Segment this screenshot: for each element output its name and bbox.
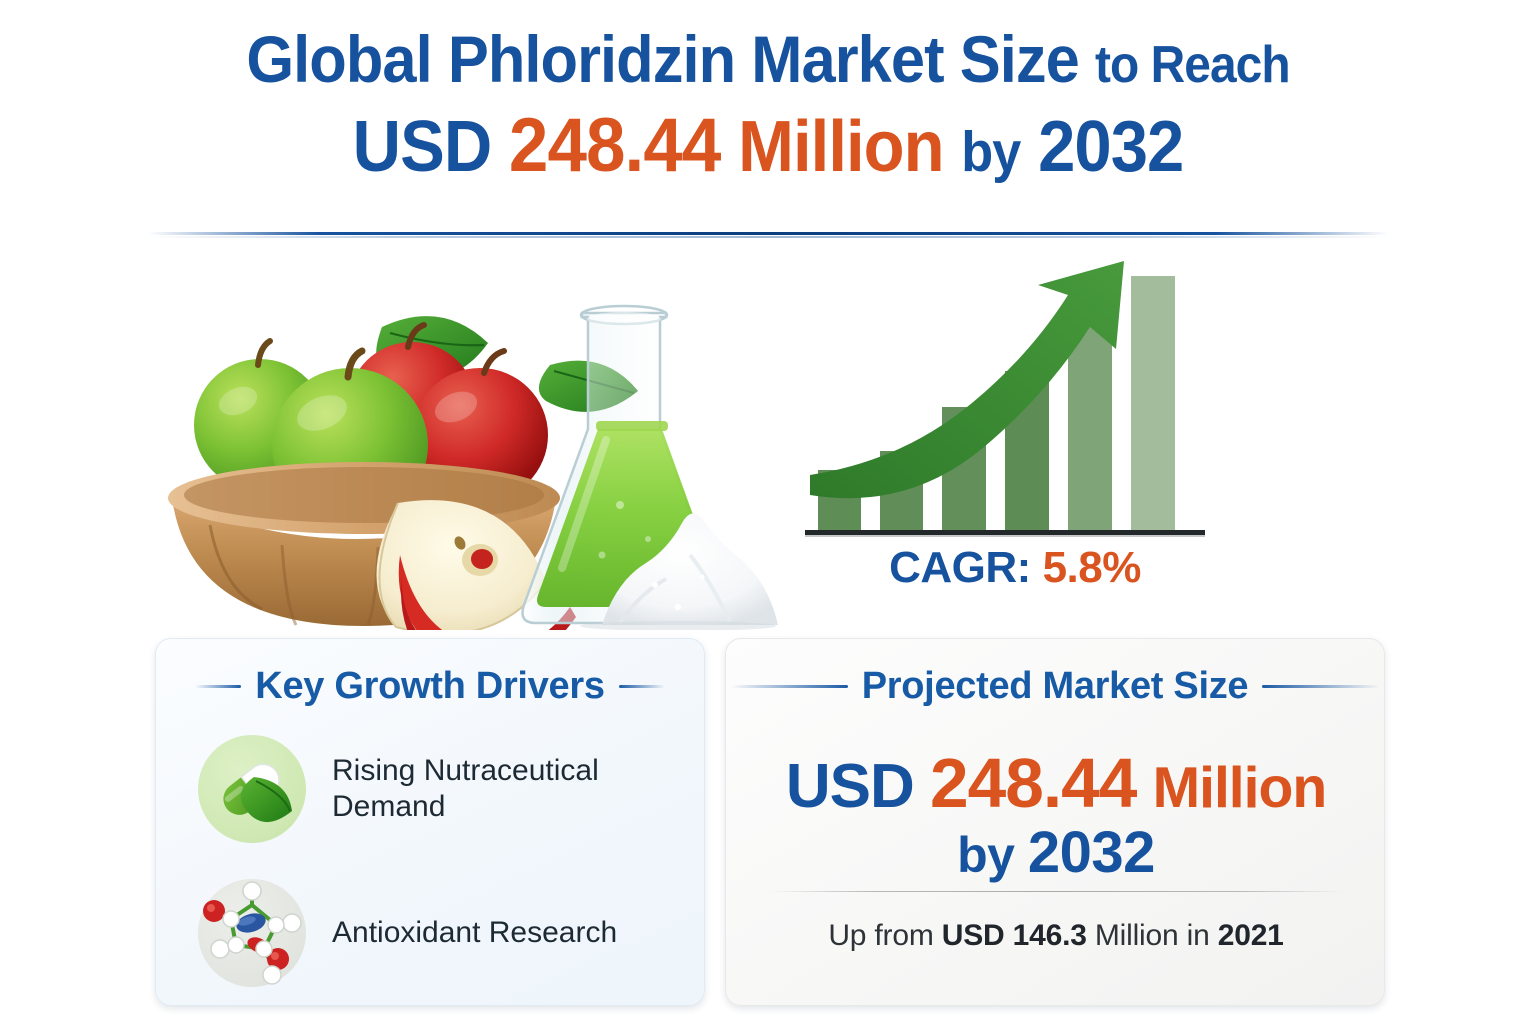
projected-year-row: by 2032 — [726, 819, 1386, 886]
cagr-readout: CAGR: 5.8% — [805, 543, 1225, 593]
title-currency: USD — [353, 107, 492, 187]
projected-card-title: Projected Market Size — [862, 665, 1249, 708]
driver-item-1-label: Rising Nutraceutical Demand — [332, 753, 672, 825]
molecule-icon — [198, 879, 306, 987]
apples-flask-powder-graphic — [150, 255, 830, 630]
header-divider — [148, 232, 1388, 235]
projected-card-divider — [768, 891, 1344, 892]
baseline-note: Up from USD 146.3 Million in 2021 — [726, 919, 1386, 953]
driver-item-1: Rising Nutraceutical Demand — [198, 735, 672, 843]
page-title-line-1: Global Phloridzin Market Size to Reach — [54, 22, 1482, 101]
drivers-card-header: Key Growth Drivers — [156, 639, 704, 708]
title-unit: Million — [738, 107, 943, 187]
dash-right-icon — [1262, 685, 1380, 688]
dash-left-icon — [195, 685, 241, 688]
title-by: by — [961, 120, 1020, 183]
projected-card-header: Projected Market Size — [726, 639, 1384, 708]
projected-currency: USD — [786, 752, 914, 821]
cagr-value: 5.8% — [1043, 543, 1141, 592]
note-prefix: Up from — [828, 919, 933, 952]
hero-illustration — [150, 255, 830, 630]
chart-baseline-shadow — [805, 535, 1205, 537]
key-growth-drivers-card: Key Growth Drivers — [155, 638, 705, 1006]
projected-value-row: USD 248.44 Million — [726, 743, 1386, 823]
driver-item-2: Antioxidant Research — [198, 879, 617, 987]
projected-year: 2032 — [1028, 820, 1155, 885]
projected-by-word: by — [957, 827, 1014, 883]
page-title-line-2: USD 248.44 Million by 2032 — [54, 105, 1482, 193]
note-value: USD 146.3 — [942, 919, 1087, 952]
projected-unit: Million — [1153, 756, 1327, 820]
title-value: 248.44 — [509, 103, 721, 188]
title-year: 2032 — [1038, 107, 1183, 187]
projected-market-size-card: Projected Market Size USD 248.44 Million… — [725, 638, 1385, 1006]
drivers-card-title: Key Growth Drivers — [255, 665, 604, 708]
chart-baseline — [805, 530, 1205, 535]
header-divider-shadow — [148, 236, 1388, 238]
projected-value: 248.44 — [930, 744, 1136, 822]
driver-item-2-label: Antioxidant Research — [332, 915, 617, 951]
dash-right-icon — [619, 685, 665, 688]
dash-left-icon — [730, 685, 848, 688]
page-header: Global Phloridzin Market Size to Reach U… — [0, 22, 1536, 193]
note-mid: Million in — [1095, 919, 1210, 952]
bar-6 — [1131, 276, 1175, 530]
title-suffix: to Reach — [1095, 35, 1290, 93]
infographic-page: Global Phloridzin Market Size to Reach U… — [0, 0, 1536, 1024]
note-year: 2021 — [1218, 919, 1284, 952]
capsule-leaf-icon — [198, 735, 306, 843]
cagr-label: CAGR: — [889, 543, 1031, 592]
title-main: Global Phloridzin Market Size — [246, 22, 1079, 96]
